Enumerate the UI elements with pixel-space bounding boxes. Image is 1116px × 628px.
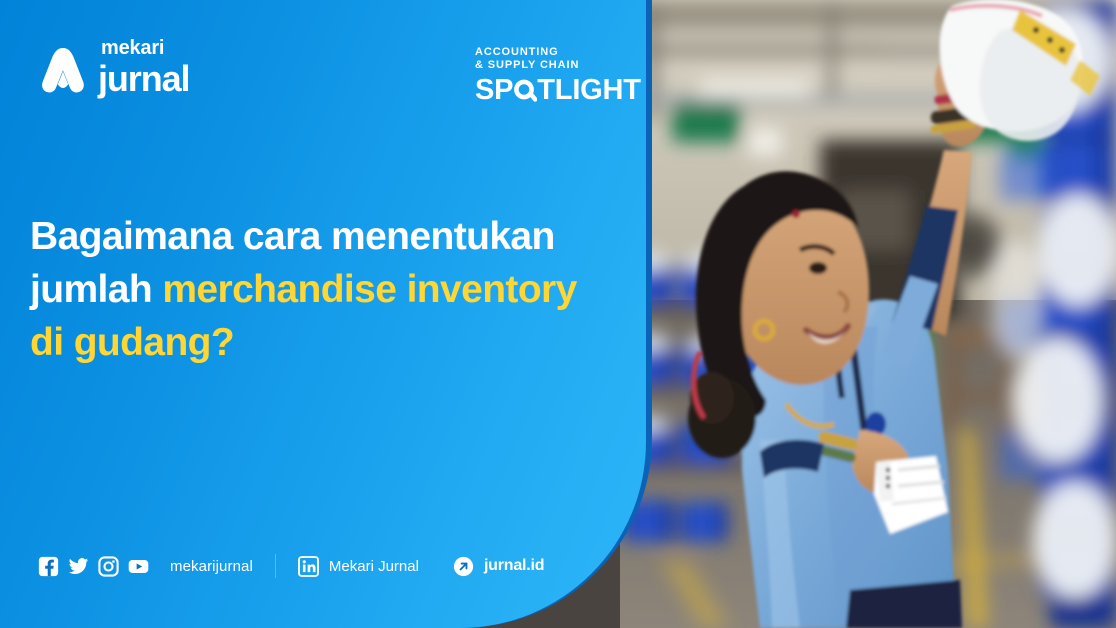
logo-wordmark: mekari jurnal (98, 38, 189, 97)
linkedin-item[interactable]: Mekari Jurnal (298, 556, 419, 577)
website-label: jurnal.id (484, 557, 544, 575)
spotlight-text-part1: SP (475, 76, 513, 105)
social-handle: mekarijurnal (170, 558, 253, 575)
social-icon-group: mekarijurnal (38, 556, 253, 577)
spotlight-wordmark: SP TLIGHT (475, 76, 641, 105)
headline-line-2-white: jumlah (30, 268, 162, 311)
logo-mekari-text: mekari (101, 38, 189, 58)
spotlight-badge: ACCOUNTING & SUPPLY CHAIN SP TLIGHT (475, 46, 641, 105)
headline-line-1: Bagaimana cara menentukan (30, 210, 630, 263)
linkedin-label: Mekari Jurnal (329, 558, 419, 575)
mekari-arrow-logo-icon (41, 45, 85, 97)
website-item[interactable]: jurnal.id (453, 556, 544, 577)
youtube-icon[interactable] (128, 556, 149, 577)
facebook-icon[interactable] (38, 556, 59, 577)
twitter-icon[interactable] (68, 556, 89, 577)
instagram-icon[interactable] (98, 556, 119, 577)
headline-line-3: di gudang? (30, 316, 630, 369)
page-title: Bagaimana cara menentukan jumlah merchan… (30, 210, 630, 369)
footer-divider (275, 554, 276, 578)
magnifier-icon (513, 76, 537, 105)
logo-jurnal-text: jurnal (98, 61, 189, 97)
arrow-circle-icon[interactable] (453, 556, 474, 577)
spotlight-text-part2: TLIGHT (537, 76, 641, 105)
headline-line-2: jumlah merchandise inventory (30, 263, 630, 316)
badge-line-2: & SUPPLY CHAIN (475, 59, 641, 72)
mekari-jurnal-logo[interactable]: mekari jurnal (41, 38, 189, 97)
linkedin-icon[interactable] (298, 556, 319, 577)
headline-line-2-highlight: merchandise inventory (162, 268, 576, 311)
banner-canvas: mekari jurnal ACCOUNTING & SUPPLY CHAIN … (0, 0, 1116, 628)
footer-social-bar: mekarijurnal Mekari Jurnal jurnal.id (38, 554, 544, 578)
badge-line-1: ACCOUNTING (475, 46, 641, 59)
